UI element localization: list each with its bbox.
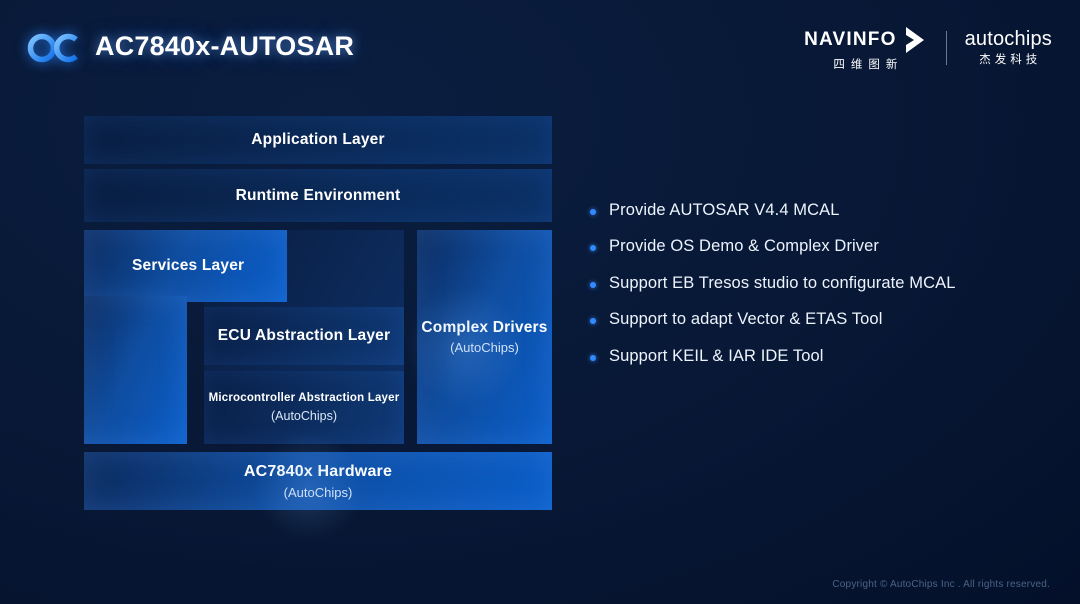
diagram-block-runtime-environment: Runtime Environment — [84, 169, 552, 222]
bullet-text: Support to adapt Vector & ETAS Tool — [609, 309, 882, 330]
diagram-block-microcontroller-abstraction-layer: Microcontroller Abstraction Layer (AutoC… — [204, 371, 404, 444]
list-item: Support EB Tresos studio to configurate … — [590, 273, 1040, 294]
brand-divider — [946, 31, 947, 65]
services-layer-label: Services Layer — [132, 256, 244, 275]
list-item: Provide OS Demo & Complex Driver — [590, 236, 1040, 257]
bullet-dot-icon — [590, 245, 596, 251]
hardware-sublabel: (AutoChips) — [284, 485, 353, 501]
bullet-dot-icon — [590, 355, 596, 361]
autosar-architecture-diagram: Application Layer Runtime Environment Se… — [84, 116, 552, 510]
bullet-dot-icon — [590, 282, 596, 288]
oc-logo-icon — [27, 30, 83, 66]
autochips-logo: autochips 杰发科技 — [965, 29, 1052, 67]
ecu-abstraction-layer-label: ECU Abstraction Layer — [218, 326, 390, 345]
diagram-block-application-layer: Application Layer — [84, 116, 552, 164]
navinfo-chevron-icon — [902, 25, 928, 55]
complex-drivers-label: Complex Drivers — [421, 318, 547, 337]
application-layer-label: Application Layer — [251, 130, 384, 149]
list-item: Support KEIL & IAR IDE Tool — [590, 346, 1040, 367]
navinfo-wordmark: NAVINFO — [804, 30, 897, 49]
mcal-layer-label: Microcontroller Abstraction Layer — [209, 391, 400, 405]
bullet-text: Support EB Tresos studio to configurate … — [609, 273, 956, 294]
bullet-text: Support KEIL & IAR IDE Tool — [609, 346, 824, 367]
bullet-dot-icon — [590, 318, 596, 324]
autochips-wordmark: autochips — [965, 29, 1052, 49]
mcal-layer-sublabel: (AutoChips) — [271, 409, 337, 424]
slide-header: AC7840x-AUTOSAR NAVINFO 四维图新 autochips 杰… — [0, 0, 1080, 96]
feature-bullet-list: Provide AUTOSAR V4.4 MCAL Provide OS Dem… — [590, 200, 1040, 382]
hardware-label: AC7840x Hardware — [244, 462, 392, 482]
runtime-environment-label: Runtime Environment — [236, 186, 401, 205]
list-item: Provide AUTOSAR V4.4 MCAL — [590, 200, 1040, 221]
footer-copyright: Copyright © AutoChips Inc . All rights r… — [832, 579, 1050, 590]
diagram-block-ecu-abstraction-layer: ECU Abstraction Layer — [204, 307, 404, 365]
bullet-text: Provide AUTOSAR V4.4 MCAL — [609, 200, 840, 221]
navinfo-chinese-name: 四维图新 — [833, 60, 903, 72]
diagram-block-services-layer: Services Layer — [84, 230, 287, 302]
diagram-block-complex-drivers: Complex Drivers (AutoChips) — [417, 230, 552, 444]
bullet-dot-icon — [590, 209, 596, 215]
autochips-chinese-name: 杰发科技 — [979, 55, 1041, 67]
slide-root: AC7840x-AUTOSAR NAVINFO 四维图新 autochips 杰… — [0, 0, 1080, 604]
complex-drivers-sublabel: (AutoChips) — [450, 340, 519, 356]
list-item: Support to adapt Vector & ETAS Tool — [590, 309, 1040, 330]
brand-logos: NAVINFO 四维图新 autochips 杰发科技 — [804, 22, 1052, 74]
diagram-block-ac7840x-hardware: AC7840x Hardware (AutoChips) — [84, 452, 552, 510]
page-title: AC7840x-AUTOSAR — [95, 31, 354, 62]
bullet-text: Provide OS Demo & Complex Driver — [609, 236, 879, 257]
diagram-block-services-layer-column — [84, 296, 187, 444]
navinfo-logo: NAVINFO 四维图新 — [804, 25, 928, 72]
